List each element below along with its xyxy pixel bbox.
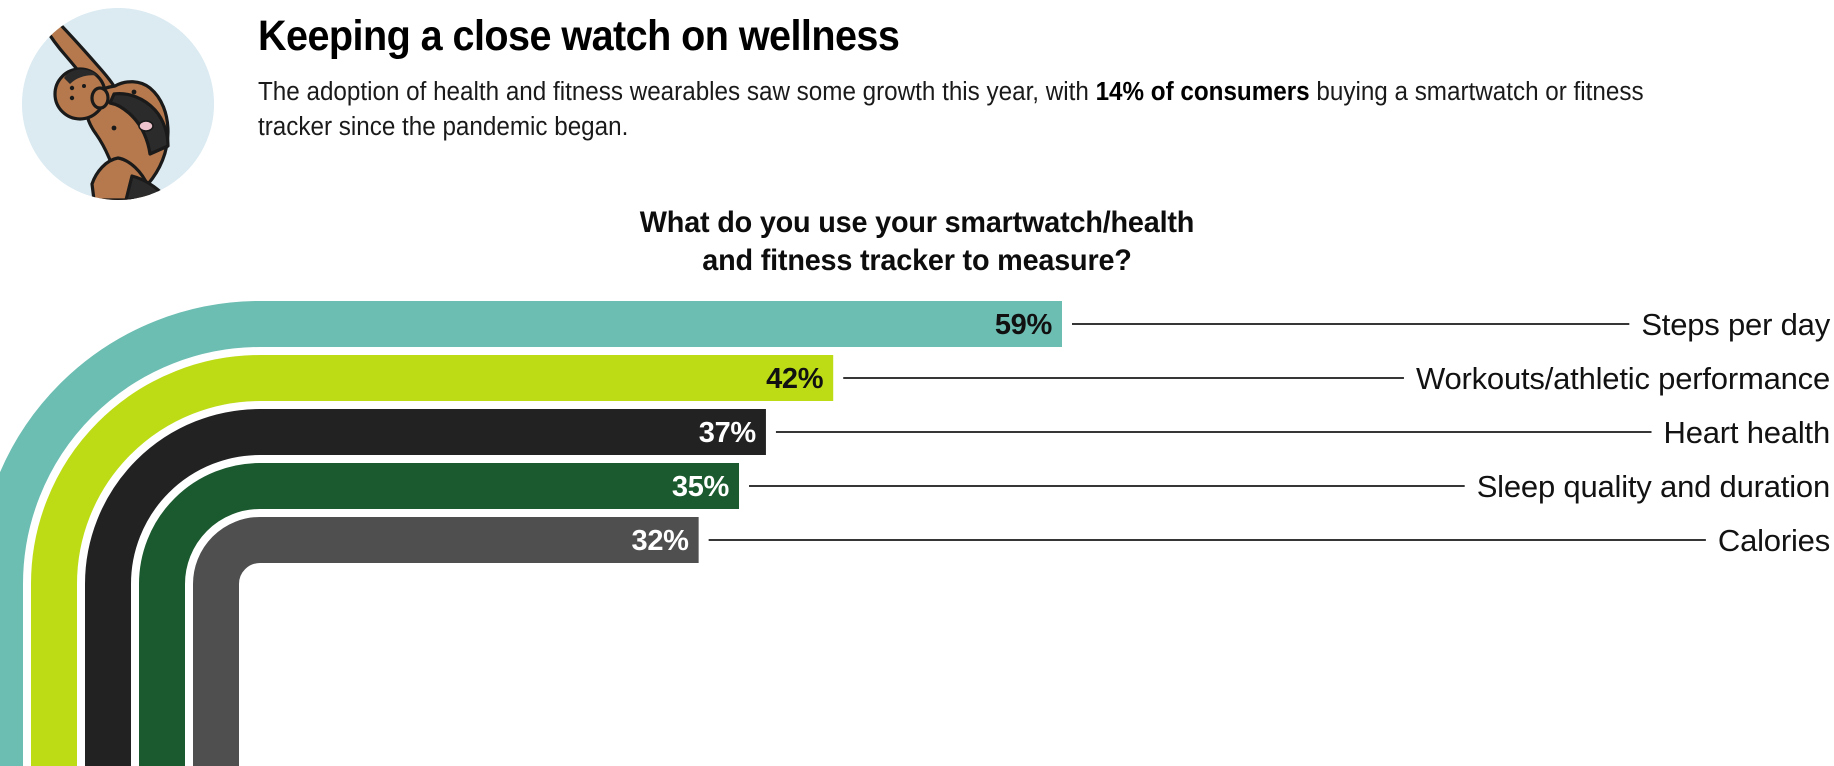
header-text-block: Keeping a close watch on wellness The ad… [258,12,1818,144]
bar-category-label: Heart health [1664,415,1830,450]
subtitle-highlight: 14% of consumers [1096,78,1310,106]
page-title: Keeping a close watch on wellness [258,12,1693,61]
bar-value-label: 59% [995,309,1053,341]
bar-value-label: 35% [672,471,730,503]
avatar [22,8,214,200]
leaders-group [709,324,1706,540]
subtitle-part-1: The adoption of health and fitness weara… [258,78,1096,106]
bar-category-label: Calories [1718,523,1830,558]
bar-value-label: 32% [631,525,689,557]
bar-band [216,540,699,766]
infographic-page: Keeping a close watch on wellness The ad… [0,0,1834,766]
header: Keeping a close watch on wellness The ad… [0,0,1834,200]
bar-value-label: 42% [766,363,824,395]
page-subtitle: The adoption of health and fitness weara… [258,75,1721,144]
curved-bar-chart: 59%42%37%35%32% Steps per dayWorkouts/at… [0,196,1834,766]
person-stretching-illustration-icon [22,8,214,200]
bars-group [0,324,1062,766]
bar-value-label: 37% [699,417,757,449]
bar-category-label: Sleep quality and duration [1477,469,1830,504]
bar-category-label: Steps per day [1641,307,1830,342]
bar-category-label: Workouts/athletic performance [1416,361,1830,396]
chart: What do you use your smartwatch/health a… [0,196,1834,766]
